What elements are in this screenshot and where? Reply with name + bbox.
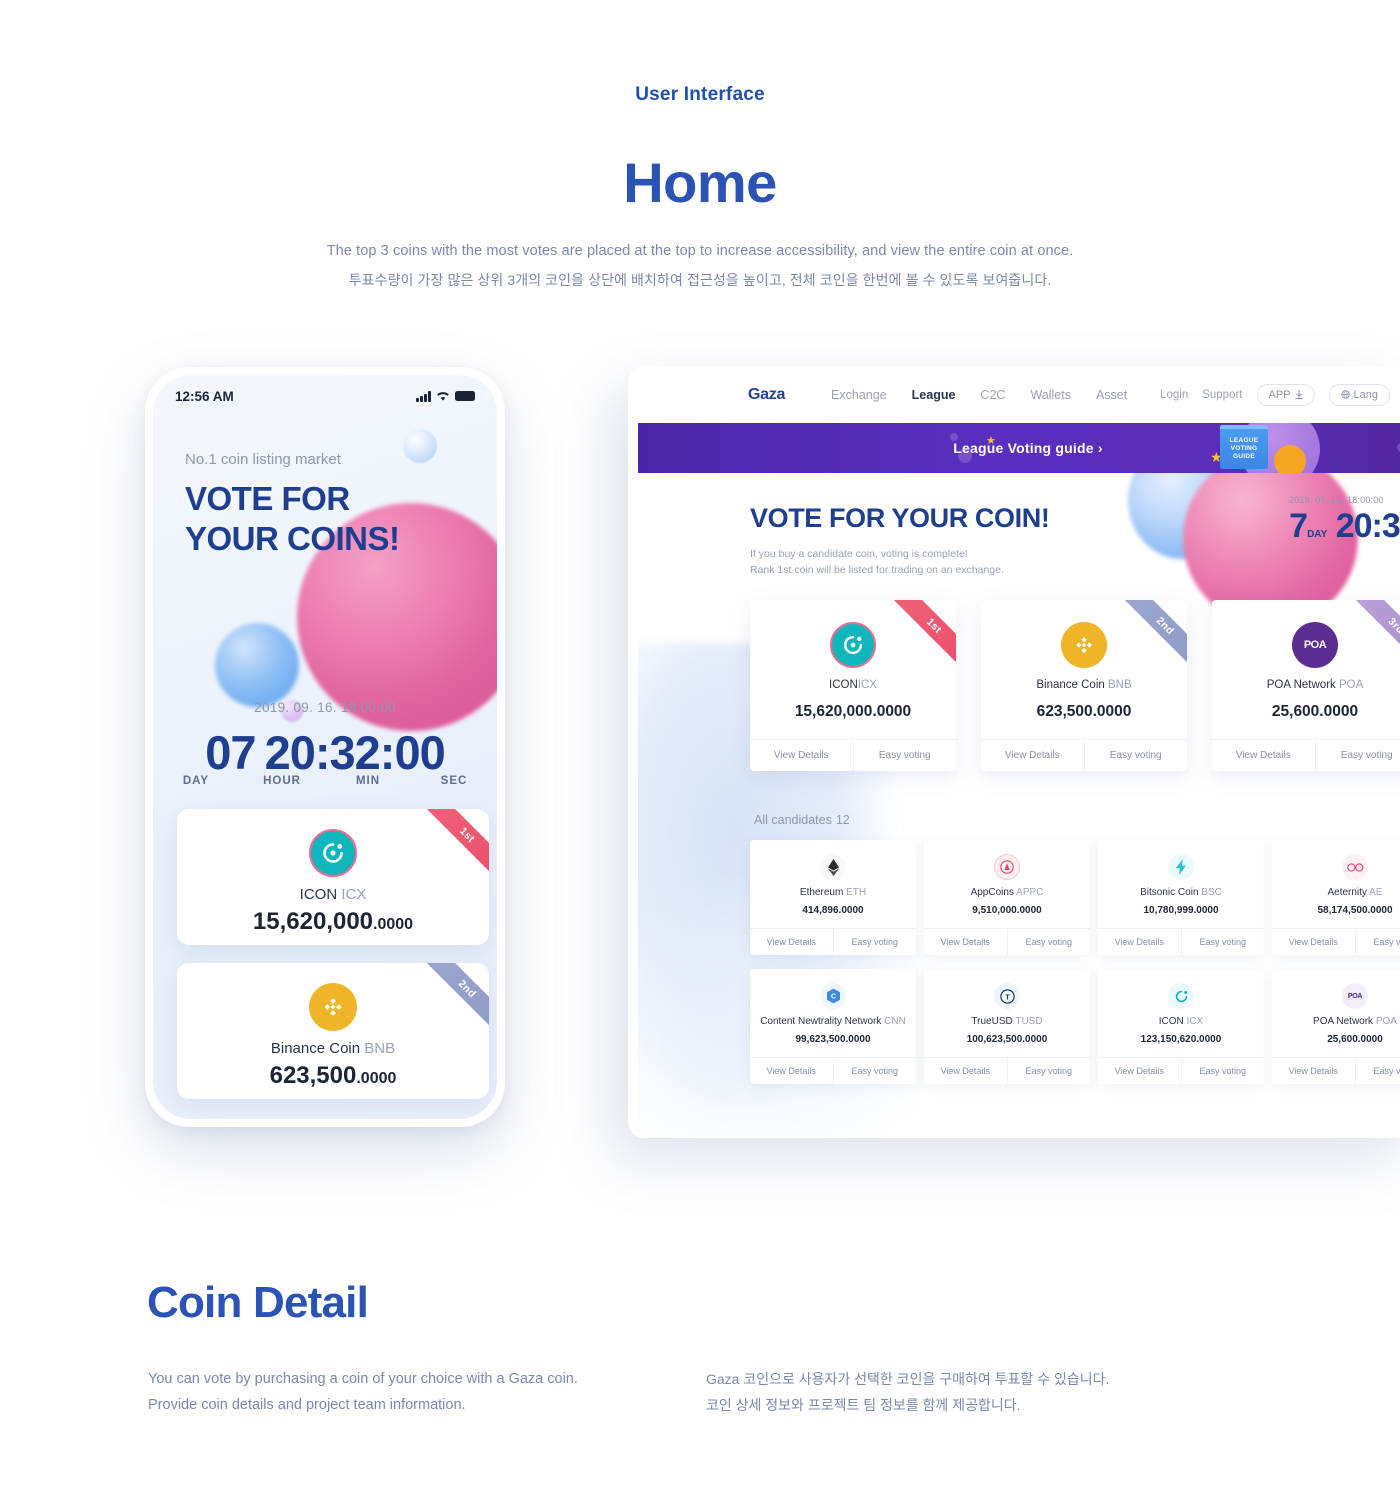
icon-icx-logo: [830, 622, 876, 668]
nav-item-exchange[interactable]: Exchange: [831, 388, 887, 402]
coin-fullname: POA Network: [1267, 679, 1336, 691]
view-details-button[interactable]: View Details: [750, 740, 853, 771]
candidate-card[interactable]: AppCoins APPC 9,510,000.0000 View Detail…: [924, 840, 1090, 955]
hero-clock: 20:32:: [1336, 507, 1400, 545]
easy-voting-button[interactable]: Easy voting: [1181, 929, 1265, 955]
language-label: Lang: [1354, 389, 1378, 401]
coin-ticker: BNB: [1108, 679, 1132, 691]
coin-name: ICON ICX: [1098, 1016, 1264, 1027]
guide-book-icon: LEAGUE VOTING GUIDE: [1220, 429, 1268, 469]
card-body: Ethereum ETH 414,896.0000: [750, 840, 916, 928]
icon-icx-logo: [309, 829, 357, 877]
card-body: ICON ICX 123,150,620.0000: [1098, 969, 1264, 1057]
rank-ribbon: 1st: [888, 600, 956, 668]
rank-label: 1st: [890, 600, 956, 668]
coin-amount: 15,620,000.0000: [177, 908, 489, 936]
coin-ticker: POA: [1376, 1016, 1397, 1027]
card-actions: View Details Easy voting: [750, 928, 916, 955]
hero-deadline: 2019. 09. 16. 18:00:00: [1289, 495, 1400, 505]
desktop-mockup: Gaza Exchange League C2C Wallets Asset L…: [628, 366, 1400, 1138]
rank-label: 2nd: [423, 963, 489, 1031]
coin-name: Binance Coin BNB: [177, 1040, 489, 1057]
coin-ticker: APPC: [1016, 887, 1043, 898]
coin-name: POA Network POA: [1272, 1016, 1400, 1027]
login-link[interactable]: Login: [1160, 389, 1188, 401]
view-details-button[interactable]: View Details: [924, 929, 1007, 955]
easy-voting-button[interactable]: Easy voting: [1315, 740, 1400, 771]
coin-fullname: Ethereum: [800, 887, 843, 898]
coin-amount-dec: .0000: [356, 1070, 396, 1087]
countdown-hour: 20: [265, 726, 315, 779]
nav-item-wallets[interactable]: Wallets: [1030, 388, 1071, 402]
coin-ticker: ICX: [1187, 1016, 1204, 1027]
coin-name: Content Newtrality Network CNN: [750, 1016, 916, 1027]
candidates-row-1: Ethereum ETH 414,896.0000 View Details E…: [750, 840, 1400, 955]
coin-amount: 414,896.0000: [750, 905, 916, 916]
coin-detail-english: You can vote by purchasing a coin of you…: [148, 1366, 578, 1418]
desktop-body: VOTE FOR YOUR COIN! If you buy a candida…: [638, 473, 1400, 1138]
status-time: 12:56 AM: [175, 389, 234, 404]
candidate-card[interactable]: Aeternity AE 58,174,500.0000 View Detail…: [1272, 840, 1400, 955]
coin-fullname: ICON: [300, 886, 338, 903]
coin-amount: 10,780,999.0000: [1098, 905, 1264, 916]
easy-voting-button[interactable]: Easy voting: [1007, 929, 1091, 955]
coin-amount: 623,500.0000: [177, 1062, 489, 1090]
rank-ribbon: 2nd: [421, 963, 489, 1031]
coin-fullname: TrueUSD: [971, 1016, 1012, 1027]
candidate-card[interactable]: T TrueUSD TUSD 100,623,500.0000 View Det…: [924, 969, 1090, 1084]
coin-fullname: ICON: [1159, 1016, 1184, 1027]
card-actions: View Details Easy voting: [1272, 1057, 1400, 1084]
nav-item-asset[interactable]: Asset: [1096, 388, 1127, 402]
coin-amount: 99,623,500.0000: [750, 1034, 916, 1045]
status-indicators: [416, 391, 475, 402]
ethereum-logo: [820, 854, 846, 880]
card-body: C Content Newtrality Network CNN 99,623,…: [750, 969, 916, 1057]
coin-ticker: BNB: [364, 1040, 395, 1057]
book-label-2: VOTING: [1220, 445, 1268, 453]
view-details-button[interactable]: View Details: [1272, 1058, 1355, 1084]
poa-network-logo: POA: [1292, 622, 1338, 668]
rank-ribbon: 2nd: [1119, 600, 1187, 668]
card-actions: View Details Easy voting: [1098, 928, 1264, 955]
page-root: User Interface Home The top 3 coins with…: [0, 0, 1400, 1509]
wifi-icon: [436, 391, 450, 402]
candidate-card[interactable]: POA POA Network POA 25,600.0000 View Det…: [1272, 969, 1400, 1084]
nav-menu: Exchange League C2C Wallets Asset: [831, 388, 1127, 402]
phone-coin-card-rank2[interactable]: 2nd Binance Coin BNB: [177, 963, 489, 1099]
coin-ticker: TUSD: [1015, 1016, 1042, 1027]
countdown-sep1: :: [315, 726, 330, 779]
hero-desc-line2: Rank 1st coin will be listed for trading…: [750, 564, 1004, 576]
countdown-sec: 00: [394, 726, 444, 779]
bitsonic-logo: [1168, 854, 1194, 880]
app-download-button[interactable]: APP: [1257, 384, 1315, 406]
coin-fullname: POA Network: [1313, 1016, 1373, 1027]
coin-amount: 25,600.0000: [1212, 703, 1400, 721]
easy-voting-button[interactable]: Easy voting: [1084, 740, 1188, 771]
coin-name: AppCoins APPC: [924, 887, 1090, 898]
all-candidates-section: All candidates12 Ethereum ETH 414,896.00…: [638, 771, 1400, 1084]
phone-kicker: No.1 coin listing market: [185, 451, 341, 468]
view-details-button[interactable]: View Details: [1272, 929, 1355, 955]
desktop-hero: VOTE FOR YOUR COIN! If you buy a candida…: [638, 473, 1400, 578]
rank-label: 3rd: [1352, 600, 1400, 668]
card-actions: View Details Easy voting: [981, 739, 1187, 771]
desktop-coin-card-rank3[interactable]: 3rd POA POA Network POA 25,600.0000 Vi: [1212, 600, 1400, 771]
candidate-card[interactable]: ICON ICX 123,150,620.0000 View Details E…: [1098, 969, 1264, 1084]
poa-network-logo: POA: [1342, 983, 1368, 1009]
rank-ribbon: 1st: [421, 809, 489, 877]
coin-ticker: ICX: [341, 886, 366, 903]
easy-voting-button[interactable]: Easy voting: [1355, 929, 1400, 955]
easy-voting-button[interactable]: Easy voting: [1181, 1058, 1265, 1084]
easy-voting-button[interactable]: Easy voting: [833, 1058, 917, 1084]
support-link[interactable]: Support: [1202, 389, 1242, 401]
view-details-button[interactable]: View Details: [924, 1058, 1007, 1084]
view-details-button[interactable]: View Details: [750, 929, 833, 955]
view-details-button[interactable]: View Details: [981, 740, 1084, 771]
coin-amount: 9,510,000.0000: [924, 905, 1090, 916]
card-actions: View Details Easy voting: [924, 1057, 1090, 1084]
rank-label: 2nd: [1121, 600, 1187, 668]
nav-item-league[interactable]: League: [912, 388, 956, 402]
card-body: AppCoins APPC 9,510,000.0000: [924, 840, 1090, 928]
language-selector[interactable]: Lang: [1329, 384, 1390, 406]
card-body: Bitsonic Coin BSC 10,780,999.0000: [1098, 840, 1264, 928]
coin-name: Aeternity AE: [1272, 887, 1400, 898]
card-actions: View Details Easy voting: [750, 739, 956, 771]
coin-amount-int: 15,620,000: [253, 908, 373, 935]
easy-voting-button[interactable]: Easy voting: [1355, 1058, 1400, 1084]
card-actions: View Details Easy voting: [1098, 1057, 1264, 1084]
coin-fullname: AppCoins: [971, 887, 1014, 898]
coin-amount: 25,600.0000: [1272, 1034, 1400, 1045]
league-voting-guide-banner[interactable]: ★ ★ LEAGUE VOTING GUIDE League Voting gu…: [638, 423, 1400, 473]
eyebrow-label: User Interface: [0, 84, 1400, 106]
coin-amount: 100,623,500.0000: [924, 1034, 1090, 1045]
svg-text:T: T: [1005, 992, 1010, 1001]
coin-amount: 58,174,500.0000: [1272, 905, 1400, 916]
small-sphere-decoration: [403, 429, 437, 463]
hero-desc-line1: If you buy a candidate coin, voting is c…: [750, 548, 968, 560]
subtitle-english: The top 3 coins with the most votes are …: [0, 243, 1400, 259]
coin-detail-ko-line2: 코인 상세 정보와 프로젝트 팀 정보를 함께 제공합니다.: [706, 1392, 1109, 1418]
coin-fullname: Aeternity: [1327, 887, 1366, 898]
coin-detail-en-line2: Provide coin details and project team in…: [148, 1392, 578, 1418]
coin-amount-dec: .0000: [373, 916, 413, 933]
phone-countdown-units: DAY HOUR MIN SEC: [153, 775, 497, 787]
coin-name: Ethereum ETH: [750, 887, 916, 898]
coin-detail-korean: Gaza 코인으로 사용자가 선택한 코인을 구매하여 투표할 수 있습니다. …: [706, 1366, 1109, 1418]
coin-ticker: CNN: [884, 1016, 906, 1027]
battery-icon: [455, 391, 475, 401]
banner-text[interactable]: League Voting guide ›: [953, 440, 1102, 456]
easy-voting-button[interactable]: Easy voting: [1007, 1058, 1091, 1084]
easy-voting-button[interactable]: Easy voting: [833, 929, 917, 955]
card-actions: View Details Easy voting: [1212, 739, 1400, 771]
coin-ticker: BSC: [1201, 887, 1222, 898]
icon-icx-logo: [1168, 983, 1194, 1009]
appcoins-logo: [994, 854, 1020, 880]
signal-icon: [416, 391, 431, 402]
view-details-button[interactable]: View Details: [1098, 929, 1181, 955]
coin-name: TrueUSD TUSD: [924, 1016, 1090, 1027]
coin-ticker: ICX: [858, 679, 877, 691]
rank-ribbon: 3rd: [1350, 600, 1400, 668]
book-label-3: GUIDE: [1220, 453, 1268, 461]
candidate-card[interactable]: Ethereum ETH 414,896.0000 View Details E…: [750, 840, 916, 955]
phone-headline-line2: YOUR COINS!: [185, 520, 400, 557]
desktop-coin-card-rank1[interactable]: 1st ICONICX 15,620,: [750, 600, 956, 771]
gaza-logo[interactable]: Gaza: [748, 386, 785, 404]
unit-hour: HOUR: [239, 775, 325, 787]
coin-detail-ko-line1: Gaza 코인으로 사용자가 선택한 코인을 구매하여 투표할 수 있습니다.: [706, 1366, 1109, 1392]
download-icon: [1295, 390, 1303, 399]
all-candidates-label: All candidates: [754, 813, 832, 827]
coin-fullname: Binance Coin: [1036, 679, 1104, 691]
desktop-navbar: Gaza Exchange League C2C Wallets Asset L…: [628, 366, 1400, 423]
banner-orange-dot: [1274, 445, 1306, 473]
unit-day: DAY: [153, 775, 239, 787]
coin-detail-title: Coin Detail: [147, 1278, 368, 1328]
coin-detail-en-line1: You can vote by purchasing a coin of you…: [148, 1366, 578, 1392]
coin-name: ICONICX: [750, 679, 956, 691]
phone-headline-line1: VOTE FOR: [185, 480, 350, 517]
coin-name: POA Network POA: [1212, 679, 1400, 691]
hero-countdown: 2019. 09. 16. 18:00:00 7DAY 20:32:: [1289, 495, 1400, 546]
phone-countdown: 0720:32:00: [153, 725, 497, 780]
page-title: Home: [0, 150, 1400, 215]
coin-amount: 623,500.0000: [981, 703, 1187, 721]
svg-text:C: C: [830, 994, 835, 1001]
card-body: Aeternity AE 58,174,500.0000: [1272, 840, 1400, 928]
all-candidates-count: 12: [836, 813, 850, 827]
app-label: APP: [1269, 389, 1291, 401]
view-details-button[interactable]: View Details: [1212, 740, 1315, 771]
subtitle-korean: 투표수량이 가장 많은 상위 3개의 코인을 상단에 배치하여 접근성을 높이고…: [0, 270, 1400, 290]
all-candidates-heading: All candidates12: [750, 813, 1400, 827]
card-body: T TrueUSD TUSD 100,623,500.0000: [924, 969, 1090, 1057]
coin-amount-int: 623,500: [270, 1062, 357, 1089]
card-body: POA POA Network POA 25,600.0000: [1272, 969, 1400, 1057]
hero-day-value: 7: [1289, 507, 1307, 545]
cnn-logo: C: [820, 983, 846, 1009]
blue-sphere-decoration: [215, 623, 299, 707]
candidate-card[interactable]: C Content Newtrality Network CNN 99,623,…: [750, 969, 916, 1084]
candidates-row-2: C Content Newtrality Network CNN 99,623,…: [750, 969, 1400, 1084]
phone-screen: 12:56 AM No.1 coin listing market VOTE F…: [153, 375, 497, 1119]
countdown-sep2: :: [380, 726, 395, 779]
unit-min: MIN: [325, 775, 411, 787]
coin-name: Binance Coin BNB: [981, 679, 1187, 691]
easy-voting-button[interactable]: Easy voting: [853, 740, 957, 771]
unit-sec: SEC: [411, 775, 497, 787]
trueusd-logo: T: [994, 983, 1020, 1009]
coin-ticker: POA: [1339, 679, 1363, 691]
coin-amount: 123,150,620.0000: [1098, 1034, 1264, 1045]
countdown-day: 07: [205, 726, 255, 779]
coin-fullname: ICON: [829, 679, 858, 691]
coin-fullname: Content Newtrality Network: [760, 1016, 881, 1027]
rank-label: 1st: [423, 809, 489, 877]
hero-day-unit: DAY: [1307, 529, 1327, 540]
nav-item-c2c[interactable]: C2C: [980, 388, 1005, 402]
coin-name: Bitsonic Coin BSC: [1098, 887, 1264, 898]
coin-name: ICON ICX: [177, 886, 489, 903]
card-actions: View Details Easy voting: [1272, 928, 1400, 955]
countdown-min: 32: [330, 726, 380, 779]
phone-status-bar: 12:56 AM: [153, 375, 497, 417]
coin-amount: 15,620,000.0000: [750, 703, 956, 721]
book-label-1: LEAGUE: [1220, 437, 1268, 445]
nav-account-area: Login Support APP Lang: [1160, 384, 1390, 406]
hero-countdown-value: 7DAY 20:32:: [1289, 507, 1400, 546]
phone-coin-card-rank1[interactable]: 1st ICON ICX 15,620,000.0000: [177, 809, 489, 945]
aeternity-logo: [1342, 854, 1368, 880]
candidate-card[interactable]: Bitsonic Coin BSC 10,780,999.0000 View D…: [1098, 840, 1264, 955]
binance-bnb-logo: [309, 983, 357, 1031]
phone-deadline: 2019. 09. 16. 18:00:00: [153, 700, 497, 715]
card-actions: View Details Easy voting: [924, 928, 1090, 955]
coin-fullname: Binance Coin: [271, 1040, 360, 1057]
phone-headline: VOTE FOR YOUR COINS!: [185, 479, 400, 559]
coin-ticker: AE: [1369, 887, 1382, 898]
globe-icon: [1341, 390, 1350, 399]
binance-bnb-logo: [1061, 622, 1107, 668]
coin-ticker: ETH: [846, 887, 866, 898]
view-details-button[interactable]: View Details: [1098, 1058, 1181, 1084]
coin-fullname: Bitsonic Coin: [1140, 887, 1198, 898]
phone-mockup: 12:56 AM No.1 coin listing market VOTE F…: [145, 367, 505, 1127]
desktop-coin-card-rank2[interactable]: 2nd: [981, 600, 1187, 771]
top3-cards: 1st ICONICX 15,620,: [638, 578, 1400, 771]
card-actions: View Details Easy voting: [750, 1057, 916, 1084]
view-details-button[interactable]: View Details: [750, 1058, 833, 1084]
